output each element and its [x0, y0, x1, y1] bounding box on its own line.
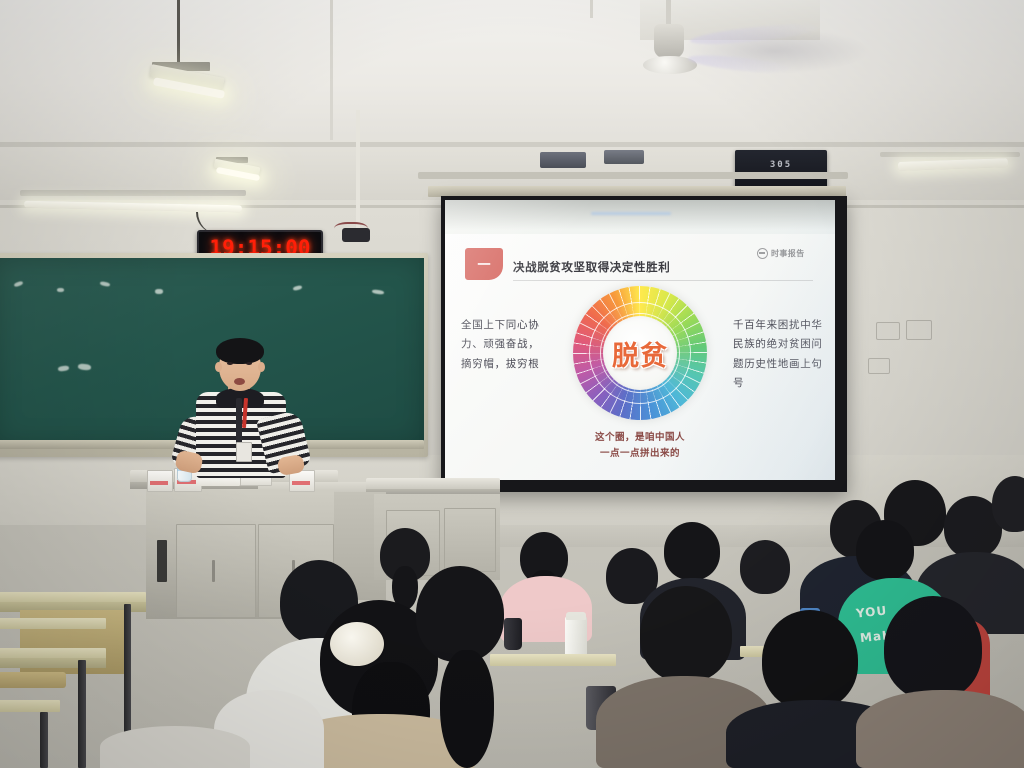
- chalk-mark: [155, 289, 163, 294]
- wall-outlet: [868, 358, 890, 374]
- presenter-ear: [215, 362, 222, 372]
- presenter-badge: [236, 442, 252, 462]
- chalk-mark: [57, 288, 64, 292]
- student-head: [664, 522, 720, 580]
- slide-caption-line1: 这个圈，是咱中国人: [445, 430, 835, 446]
- desk-box-band: [150, 481, 168, 485]
- slide-right-text: 千百年来困扰中华民族的绝对贫困问题历史性地画上句号: [733, 316, 823, 394]
- slide-content: 一 决战脱贫攻坚取得决定性胜利 时事报告 全国上下同心协力、顽强奋战，摘穷帽，拔…: [445, 234, 835, 480]
- slide-title: 决战脱贫攻坚取得决定性胜利: [513, 259, 670, 275]
- desk-box-band: [292, 481, 310, 485]
- room-number-label: 305: [735, 160, 827, 170]
- slide-left-text: 全国上下同心协力、顽强奋战，摘穷帽，拔穷根: [461, 316, 545, 374]
- logo-mark-icon: [757, 248, 768, 259]
- audience-desk: [490, 654, 616, 666]
- student-head: [640, 586, 732, 682]
- pendant-rod: [177, 0, 180, 62]
- student-head: [856, 520, 914, 580]
- classroom-photo: 19:15:00 305 一 决战脱: [0, 0, 1024, 768]
- slide-section-badge: 一: [465, 248, 503, 280]
- speaker-box: 305: [735, 150, 827, 190]
- slide-caption-line2: 一点一点拼出来的: [445, 446, 835, 462]
- projection-screen: 一 决战脱贫攻坚取得决定性胜利 时事报告 全国上下同心协力、顽强奋战，摘穷帽，拔…: [445, 200, 835, 480]
- donut-center-hole: 脱贫: [603, 316, 677, 390]
- camera-pole: [356, 110, 360, 228]
- thermos-bottle: [504, 618, 522, 650]
- projector-bracket: [540, 152, 586, 168]
- wall-molding: [0, 142, 1024, 147]
- hair-scrunchie: [330, 622, 384, 666]
- desk-shelf: [0, 700, 60, 712]
- presenter-hair: [216, 338, 264, 364]
- cabinet-door: [444, 508, 496, 572]
- shirt-text-line1: YOU: [855, 604, 887, 620]
- donut-chart: 脱贫: [573, 286, 707, 420]
- presenter-ear: [258, 362, 265, 372]
- projection-screen-frame: 一 决战脱贫攻坚取得决定性胜利 时事报告 全国上下同心协力、顽强奋战，摘穷帽，拔…: [441, 196, 847, 492]
- light-track: [880, 152, 1020, 157]
- slide-logo-text: 时事报告: [771, 248, 805, 259]
- screen-mount-rail: [418, 172, 848, 179]
- slide-section-number: 一: [477, 258, 490, 271]
- slide-title-rule: [513, 280, 813, 281]
- projector-bracket: [604, 150, 644, 164]
- student-head: [740, 540, 790, 594]
- student-head: [884, 596, 982, 700]
- desk-shelf: [0, 618, 106, 629]
- presenter-mouth: [234, 378, 245, 385]
- student-head: [762, 610, 858, 710]
- camera-mount: [342, 228, 370, 242]
- student-front-light: [100, 726, 250, 768]
- student-shoulders: [856, 690, 1024, 768]
- presenter-eye: [227, 362, 233, 365]
- desk-leg: [40, 712, 48, 768]
- thermos-cap: [566, 612, 586, 620]
- lectern-door: [176, 524, 256, 618]
- bench-seat: [0, 672, 66, 688]
- lectern-vent: [157, 540, 167, 582]
- ceiling-seam: [330, 0, 333, 150]
- screen-top-shadow: [445, 200, 835, 230]
- slide-logo: 时事报告: [757, 248, 805, 259]
- presenter-eye: [246, 362, 252, 365]
- light-track: [20, 190, 246, 196]
- ceiling-seam: [590, 0, 593, 18]
- student-head: [416, 566, 504, 662]
- wall-outlet: [906, 320, 932, 340]
- lectern-handle: [212, 560, 215, 582]
- desk-leg: [78, 660, 86, 768]
- student-ponytail: [440, 650, 494, 768]
- donut-center-label: 脱贫: [603, 316, 677, 390]
- wall-outlet: [876, 322, 900, 340]
- screen-light-reflection: [591, 212, 671, 215]
- desk-front: [0, 658, 106, 668]
